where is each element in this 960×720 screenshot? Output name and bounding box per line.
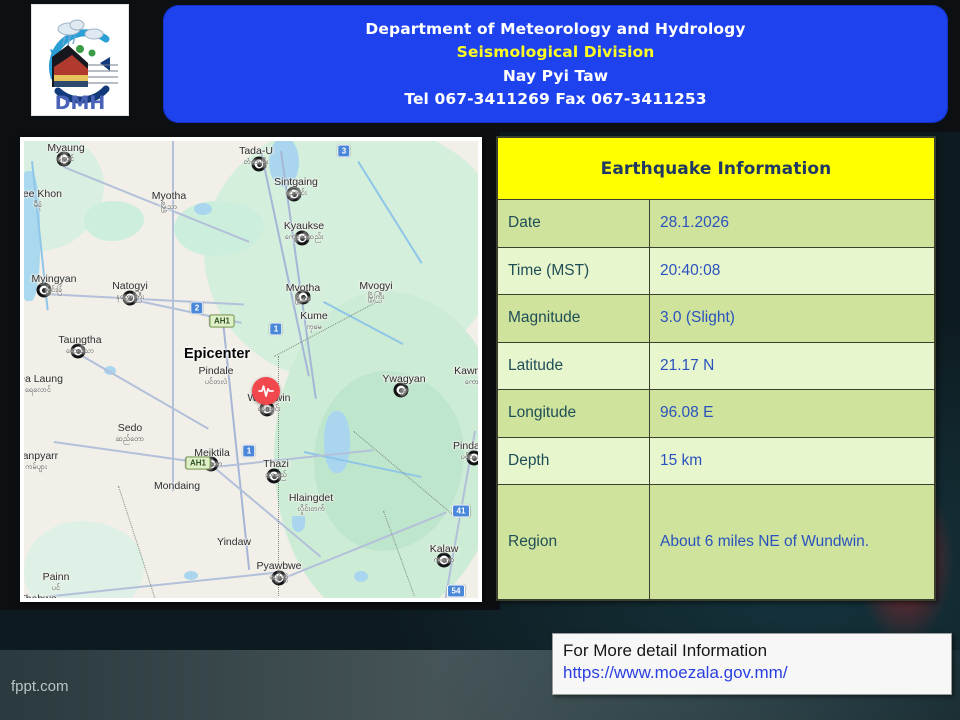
town-name: Thazi [263, 458, 289, 470]
town-name: Pyawbwe [257, 560, 302, 572]
town-name: Myaung [47, 142, 84, 154]
town-label: Myothaမြို့သာ [152, 191, 186, 210]
town-name: Mee Khon [24, 188, 62, 200]
town-name-burmese: ပင် [43, 584, 70, 591]
water-cycle-icon: DMH [32, 5, 128, 115]
town-name-burmese: နတ္တောကြီး [112, 293, 148, 300]
row-key: Latitude [498, 342, 650, 390]
town-name: Myingyan [32, 273, 77, 285]
table-row: RegionAbout 6 miles NE of Wundwin. [498, 485, 935, 600]
town-label: Yindaw [217, 537, 251, 548]
town-name: Myotha [152, 190, 186, 202]
row-value: About 6 miles NE of Wundwin. [650, 485, 935, 600]
town-label: Natogyiနတ္တောကြီး [112, 281, 148, 300]
town-name-burmese: မီခုံ [24, 201, 62, 208]
water-body [324, 411, 350, 473]
town-label: Pindaleပင်တလဲ [198, 366, 233, 385]
route-shield: AH1 [209, 315, 234, 328]
town-name: Sintgaing [274, 176, 318, 188]
town-label: Mondaing [154, 481, 200, 492]
row-key: Magnitude [498, 295, 650, 343]
town-name: Sedo [118, 422, 143, 434]
route-shield: AH1 [185, 457, 210, 470]
town-label: Kyaukseကျောက်ဆည်း [284, 221, 324, 240]
header-line-3: Nay Pyi Taw [503, 65, 608, 87]
header-line-1: Department of Meteorology and Hydrology [365, 18, 745, 40]
town-name-burmese: လှိုင်းတက် [289, 505, 333, 512]
epicenter-marker[interactable] [252, 377, 280, 405]
town-name: Kalaw [430, 543, 459, 555]
header-line-2: Seismological Division [457, 41, 655, 63]
town-name: Tada-U [239, 145, 273, 157]
town-name-burmese: ရွာ [382, 386, 425, 393]
town-label: Myaungမြောင် [47, 143, 84, 162]
watermark: fppt.com [11, 678, 69, 695]
town-label: Kumeကုမေ [300, 311, 327, 330]
town-name: Mondaing [154, 480, 200, 492]
town-name: Yindaw [217, 536, 251, 548]
town-name-burmese: မြောင် [47, 155, 84, 162]
town-label: Hlaingdetလှိုင်းတက် [289, 493, 333, 512]
water-body [292, 516, 305, 532]
route-shield: 54 [447, 585, 465, 598]
table-row: Longitude96.08 E [498, 390, 935, 438]
route-shield: 1 [269, 323, 282, 336]
dmh-logo: DMH [31, 4, 129, 116]
town-name-burmese: မြို့သာ [286, 295, 320, 302]
town-name: Hlaingdet [289, 492, 333, 504]
town-name-burmese: ကမ်ပျား [24, 463, 58, 470]
map-canvas[interactable]: Myaungမြောင်Mee KhonမီခုံMyothaမြို့သာTa… [24, 141, 478, 598]
info-table-element: Earthquake Information Date28.1.2026Time… [497, 137, 935, 600]
town-name-burmese: ဝန်းတွင်း [248, 405, 291, 412]
town-name-burmese: မြို့သာ [152, 203, 186, 210]
town-label: Pindayaပင်တယ [453, 441, 478, 460]
town-name: Kume [300, 310, 327, 322]
more-info-box[interactable]: For More detail Information https://www.… [552, 633, 952, 695]
town-name-burmese: ကောင်ပို [454, 378, 478, 385]
logo-text: DMH [55, 92, 106, 114]
route-shield: 41 [452, 505, 470, 518]
row-value: 28.1.2026 [650, 200, 935, 248]
town-label: Tada-Uတံတားဦး [239, 146, 273, 165]
seismograph-wave-icon [258, 383, 274, 399]
water-body [184, 571, 198, 580]
town-label: Painnပင် [43, 572, 70, 591]
town-name-burmese: တံတားဦး [239, 158, 273, 165]
header-banner: Department of Meteorology and Hydrology … [163, 5, 948, 123]
row-key: Date [498, 200, 650, 248]
town-name: Taungtha [58, 334, 101, 346]
row-key: Time (MST) [498, 247, 650, 295]
water-body [194, 203, 212, 215]
town-label: Yea Laungရေလောင် [24, 374, 63, 393]
town-label: Ywagyanရွာ [382, 374, 425, 393]
town-label: Thabweဘွဲ [24, 594, 57, 598]
town-name-burmese: ရေလောင် [24, 386, 63, 393]
town-name-burmese: သာစည် [263, 471, 289, 478]
town-name: Mvogyi [359, 280, 392, 292]
row-value: 21.17 N [650, 342, 935, 390]
town-name: Mvotha [286, 282, 320, 294]
route-shield: 2 [190, 302, 203, 315]
town-label: Kalawကလော [430, 544, 459, 563]
table-row: Time (MST)20:40:08 [498, 247, 935, 295]
town-name-burmese: ပျော်ဘွဲ [257, 573, 302, 580]
town-name: Kawngpo [454, 365, 478, 377]
town-name-burmese: စဉ်ကိုင်း [274, 189, 318, 196]
more-info-label: For More detail Information [563, 640, 941, 662]
town-label: Mvothaမြို့သာ [286, 283, 320, 302]
town-name: Natogyi [112, 280, 148, 292]
header-line-4: Tel 067-3411269 Fax 067-3411253 [404, 88, 706, 110]
table-row: Latitude21.17 N [498, 342, 935, 390]
table-header-row: Earthquake Information [498, 138, 935, 200]
town-name-burmese: ဆည်တော [116, 435, 144, 442]
town-name-burmese: ကုမေ [300, 323, 327, 330]
town-name: tpanpyarr [24, 450, 58, 462]
town-name-burmese: မြင်းခြံ [32, 286, 77, 293]
terrain-patch [84, 201, 144, 241]
town-name: Thabwe [24, 593, 57, 598]
row-key: Longitude [498, 390, 650, 438]
town-name-burmese: ပင်တယ [453, 453, 478, 460]
town-label: Pyawbweပျော်ဘွဲ [257, 561, 302, 580]
road [78, 353, 209, 429]
water-body [354, 571, 368, 582]
more-info-link[interactable]: https://www.moezala.gov.mm/ [563, 662, 941, 684]
town-name-burmese: ကလော [430, 556, 459, 563]
row-key: Region [498, 485, 650, 600]
route-shield: 1 [242, 445, 255, 458]
town-label: Mee Khonမီခုံ [24, 189, 62, 208]
town-label: Kawngpoကောင်ပို [454, 366, 478, 385]
town-label: Sintgaingစဉ်ကိုင်း [274, 177, 318, 196]
row-key: Depth [498, 437, 650, 485]
table-title: Earthquake Information [498, 138, 935, 200]
town-name: Yea Laung [24, 373, 63, 385]
town-name: Pindale [198, 365, 233, 377]
row-value: 96.08 E [650, 390, 935, 438]
row-value: 15 km [650, 437, 935, 485]
table-row: Date28.1.2026 [498, 200, 935, 248]
town-label: Sedoဆည်တော [116, 423, 144, 442]
route-shield: 3 [337, 145, 350, 158]
town-name-burmese: တောင်သာ [58, 347, 101, 354]
town-label: Mvogyiမြို့ကြီး [359, 281, 392, 300]
town-name: Ywagyan [382, 373, 425, 385]
table-row: Depth15 km [498, 437, 935, 485]
town-name-burmese: မြို့ကြီး [359, 293, 392, 300]
row-value: 20:40:08 [650, 247, 935, 295]
town-name-burmese: ကျောက်ဆည်း [284, 233, 324, 240]
earthquake-info-table: Earthquake Information Date28.1.2026Time… [496, 136, 936, 601]
town-name: Kyaukse [284, 220, 324, 232]
town-label: Thaziသာစည် [263, 459, 289, 478]
table-row: Magnitude3.0 (Slight) [498, 295, 935, 343]
table-body: Date28.1.2026Time (MST)20:40:08Magnitude… [498, 200, 935, 600]
town-name: Pindaya [453, 440, 478, 452]
town-label: Taungthaတောင်သာ [58, 335, 101, 354]
row-value: 3.0 (Slight) [650, 295, 935, 343]
town-label: Myingyanမြင်းခြံ [32, 274, 77, 293]
town-name: Painn [43, 571, 70, 583]
epicenter-label: Epicenter [184, 346, 250, 362]
map-panel[interactable]: Myaungမြောင်Mee KhonမီခုံMyothaမြို့သာTa… [20, 137, 482, 602]
town-label: tpanpyarrကမ်ပျား [24, 451, 58, 470]
town-name-burmese: ပင်တလဲ [198, 378, 233, 385]
